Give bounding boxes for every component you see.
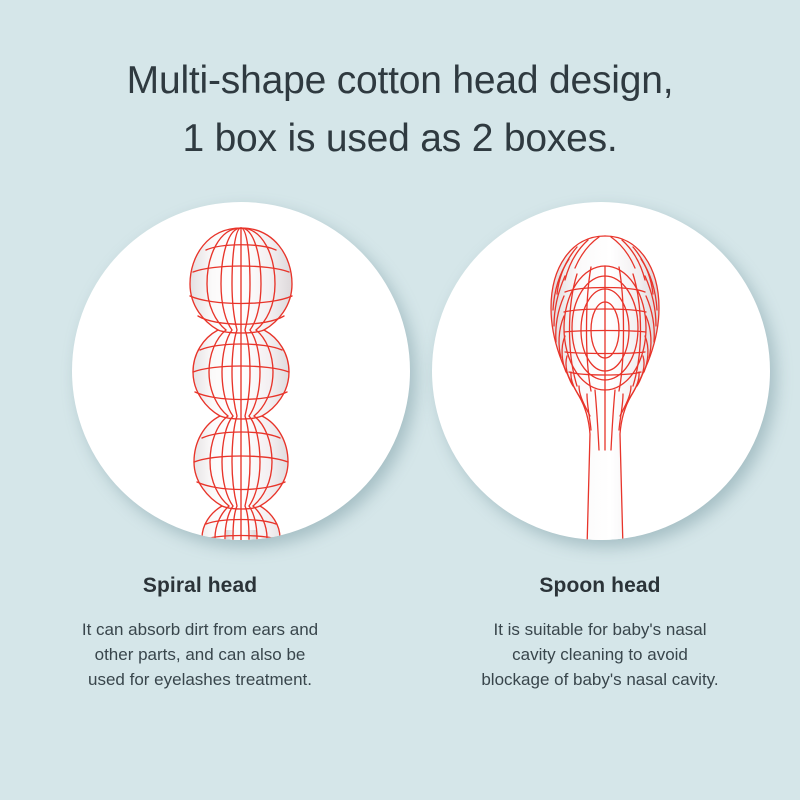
caption-spoon-head-body-line-3: blockage of baby's nasal cavity. — [400, 667, 800, 692]
caption-spoon-head-body-line-2: cavity cleaning to avoid — [400, 642, 800, 667]
spoon-cotton-swab-illustration — [505, 220, 705, 540]
headline-line-2: 1 box is used as 2 boxes. — [0, 110, 800, 168]
spoon-head-image-circle — [432, 202, 770, 540]
caption-spoon-head-body-line-1: It is suitable for baby's nasal — [400, 617, 800, 642]
headline-line-1: Multi-shape cotton head design, — [0, 52, 800, 110]
spiral-head-clip — [72, 202, 410, 540]
headline: Multi-shape cotton head design, 1 box is… — [0, 52, 800, 168]
captions-row: Spiral head It can absorb dirt from ears… — [0, 572, 800, 692]
caption-spiral-head-title: Spiral head — [0, 572, 400, 600]
spiral-head-image-circle — [72, 202, 410, 540]
cropped-text-fragment-glyphs: - - — [524, 0, 584, 7]
caption-spoon-head: Spoon head It is suitable for baby's nas… — [400, 572, 800, 692]
caption-spiral-head: Spiral head It can absorb dirt from ears… — [0, 572, 400, 692]
cropped-text-fragment: - - — [524, 0, 584, 7]
spiral-cotton-swab-illustration — [146, 210, 336, 540]
caption-spiral-head-body-line-2: other parts, and can also be — [0, 642, 400, 667]
caption-spiral-head-body-line-1: It can absorb dirt from ears and — [0, 617, 400, 642]
caption-spiral-head-body-line-3: used for eyelashes treatment. — [0, 667, 400, 692]
caption-spiral-head-body: It can absorb dirt from ears and other p… — [0, 617, 400, 692]
product-feature-graphic: - - Multi-shape cotton head design, 1 bo… — [0, 0, 800, 800]
spoon-head-clip — [432, 202, 770, 540]
caption-spoon-head-body: It is suitable for baby's nasal cavity c… — [400, 617, 800, 692]
caption-spoon-head-title: Spoon head — [400, 572, 800, 600]
